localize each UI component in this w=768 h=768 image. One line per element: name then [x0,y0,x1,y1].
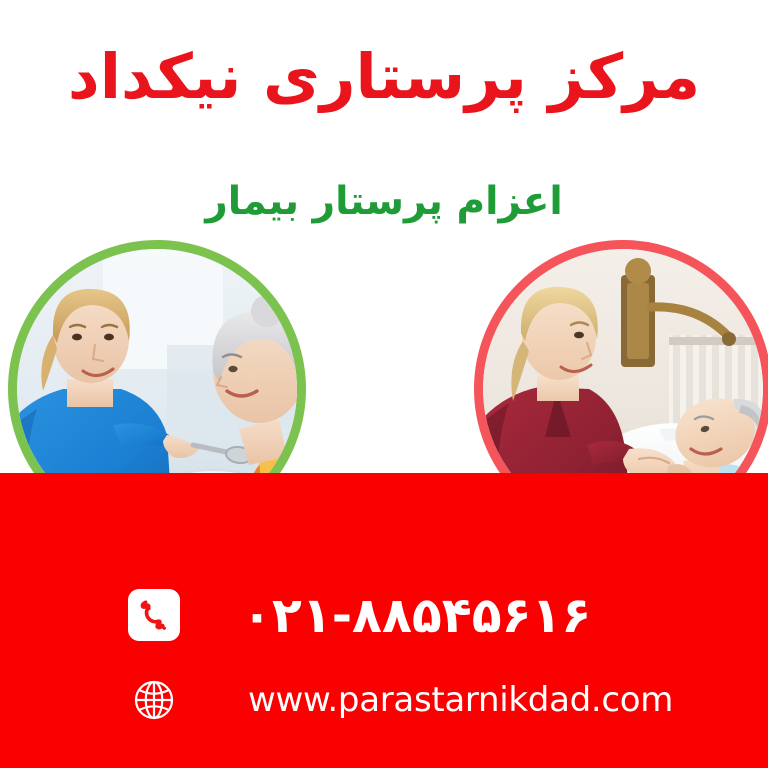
telephone-handset-icon[interactable] [128,589,180,641]
globe-icon[interactable] [128,674,180,726]
phone-contact-row[interactable]: ۰۲۱-۸۸۵۴۵۶۱۶ [128,583,591,647]
page-subtitle: اعزام پرستار بیمار [0,182,768,223]
page-title: مرکز پرستاری نیکداد [0,44,768,109]
globe-glyph [132,678,176,722]
telephone-handset-glyph [136,597,172,633]
website-contact-row[interactable]: www.parastarnikdad.com [128,672,673,728]
phone-number[interactable]: ۰۲۱-۸۸۵۴۵۶۱۶ [242,591,591,640]
headline-block: مرکز پرستاری نیکداد اعزام پرستار بیمار [0,0,768,240]
nursing-service-banner: مرکز پرستاری نیکداد اعزام پرستار بیمار [0,0,768,768]
website-url[interactable]: www.parastarnikdad.com [248,683,673,717]
